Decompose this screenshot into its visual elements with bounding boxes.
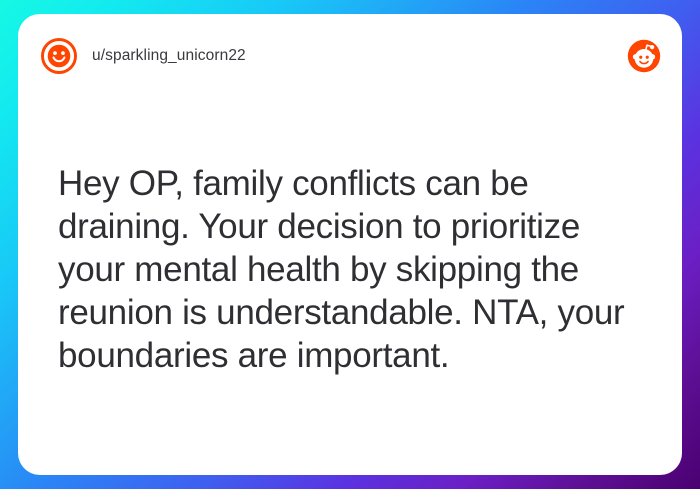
- smiley-face-avatar-icon[interactable]: [40, 37, 78, 75]
- card-header: u/sparkling_unicorn22: [18, 14, 682, 98]
- reddit-comment-card: u/sparkling_unicorn22 Hey OP, family con…: [18, 14, 682, 475]
- reddit-snoo-icon[interactable]: [626, 38, 662, 74]
- card-body: Hey OP, family conflicts can be draining…: [58, 162, 646, 377]
- username-label: u/sparkling_unicorn22: [92, 47, 246, 65]
- gradient-background: u/sparkling_unicorn22 Hey OP, family con…: [0, 0, 700, 489]
- comment-text: Hey OP, family conflicts can be draining…: [58, 162, 646, 377]
